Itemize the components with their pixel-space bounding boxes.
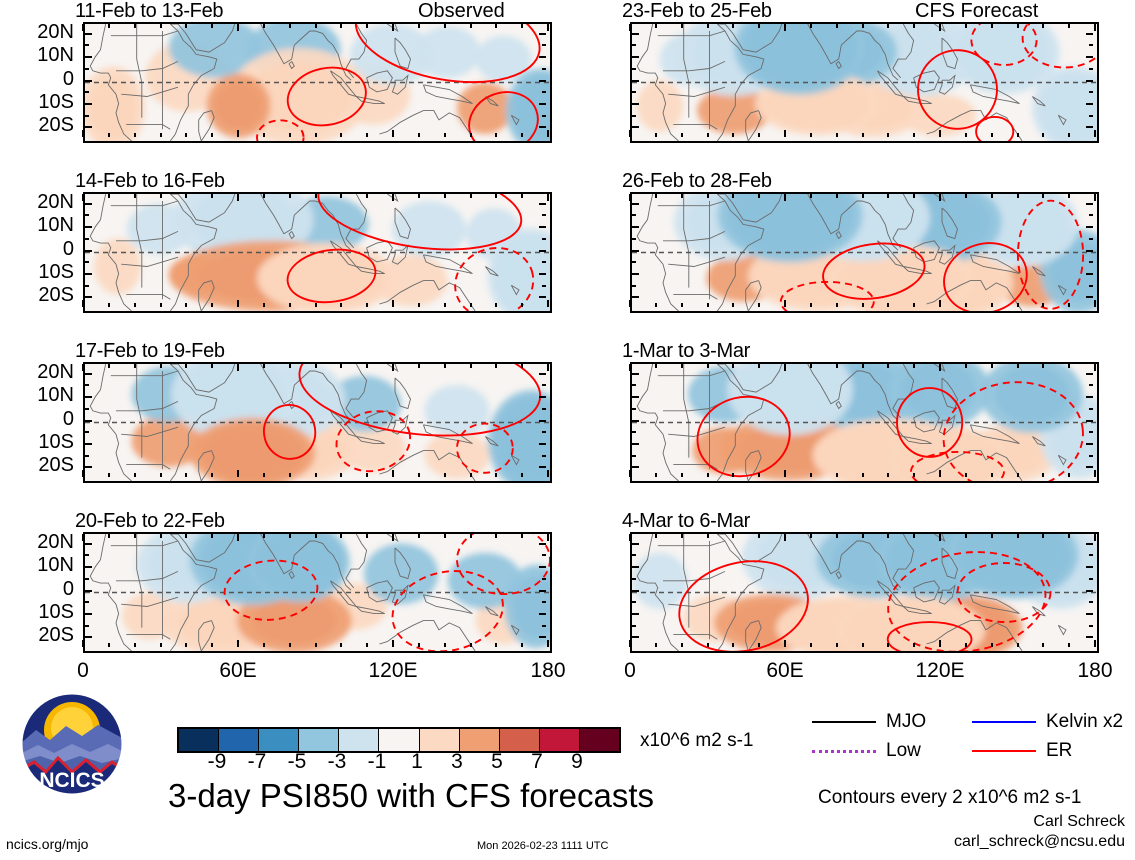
axis-tick	[237, 24, 239, 31]
axis-tick	[134, 473, 136, 477]
axis-tick	[547, 130, 549, 137]
axis-tick	[991, 364, 993, 368]
axis-tick-minor	[85, 578, 89, 580]
axis-tick	[85, 250, 92, 252]
author-name: Carl Schreck	[935, 813, 1125, 831]
axis-tick	[521, 364, 523, 368]
x-axis-label: 120E	[343, 659, 443, 683]
axis-tick-minor	[85, 214, 89, 216]
axis-tick	[1042, 194, 1044, 198]
axis-tick	[629, 364, 631, 371]
axis-tick	[211, 364, 213, 368]
axis-tick	[632, 373, 639, 375]
axis-tick	[539, 373, 546, 375]
axis-tick	[495, 534, 497, 538]
anomaly-field	[632, 534, 1097, 651]
axis-tick-minor	[542, 408, 546, 410]
axis-tick	[211, 534, 213, 538]
axis-tick	[82, 194, 84, 201]
axis-tick	[82, 470, 84, 477]
axis-tick	[681, 303, 683, 307]
axis-tick	[85, 443, 92, 445]
axis-tick	[681, 194, 683, 198]
axis-tick	[965, 534, 967, 538]
axis-tick	[85, 226, 92, 228]
axis-tick	[632, 420, 639, 422]
axis-tick	[444, 643, 446, 647]
axis-tick	[632, 273, 639, 275]
axis-tick-minor	[542, 238, 546, 240]
axis-tick	[1017, 303, 1019, 307]
axis-tick	[108, 194, 110, 198]
axis-tick	[315, 24, 317, 28]
axis-tick	[810, 133, 812, 137]
y-axis-label: 20S	[0, 284, 74, 307]
axis-tick	[681, 364, 683, 368]
axis-tick	[913, 194, 915, 198]
axis-tick	[134, 303, 136, 307]
axis-tick-minor	[85, 554, 89, 556]
axis-tick	[521, 473, 523, 477]
axis-tick	[470, 24, 472, 28]
axis-tick	[289, 133, 291, 137]
axis-tick	[470, 303, 472, 307]
axis-tick	[160, 133, 162, 137]
axis-tick	[160, 364, 162, 368]
axis-tick	[108, 364, 110, 368]
axis-tick	[836, 643, 838, 647]
axis-tick	[1086, 466, 1093, 468]
axis-tick	[1094, 470, 1096, 477]
axis-tick	[539, 636, 546, 638]
legend-label: MJO	[886, 711, 926, 733]
axis-tick-minor	[1089, 68, 1093, 70]
axis-tick	[521, 194, 523, 198]
axis-tick	[539, 296, 546, 298]
axis-tick	[392, 534, 394, 541]
panel-title: 14-Feb to 16-Feb	[75, 170, 225, 193]
axis-tick	[913, 473, 915, 477]
axis-tick-minor	[632, 408, 636, 410]
axis-tick	[810, 303, 812, 307]
axis-tick	[632, 226, 639, 228]
axis-tick-minor	[1089, 238, 1093, 240]
site-url[interactable]: ncics.org/mjo	[6, 836, 88, 852]
axis-tick	[810, 534, 812, 538]
generation-timestamp: Mon 2026-02-23 1111 UTC	[477, 840, 608, 852]
axis-tick-minor	[632, 431, 636, 433]
axis-tick	[366, 194, 368, 198]
axis-tick-minor	[1089, 578, 1093, 580]
axis-tick	[681, 534, 683, 538]
axis-tick	[539, 103, 546, 105]
axis-tick	[547, 364, 549, 371]
axis-tick	[85, 396, 92, 398]
axis-tick	[707, 194, 709, 198]
axis-tick	[758, 534, 760, 538]
x-axis-label: 0	[33, 659, 133, 683]
axis-tick	[185, 473, 187, 477]
axis-tick	[632, 566, 639, 568]
axis-tick	[185, 303, 187, 307]
axis-tick	[392, 364, 394, 371]
axis-tick	[732, 133, 734, 137]
axis-tick	[539, 203, 546, 205]
axis-tick	[366, 133, 368, 137]
axis-tick	[632, 203, 639, 205]
axis-tick	[991, 24, 993, 28]
axis-tick	[237, 470, 239, 477]
axis-tick	[732, 194, 734, 198]
axis-tick	[913, 364, 915, 368]
axis-tick	[340, 534, 342, 538]
axis-tick	[495, 643, 497, 647]
axis-tick	[1086, 250, 1093, 252]
axis-tick-minor	[632, 44, 636, 46]
y-axis-label: 0	[0, 578, 74, 601]
axis-tick	[237, 194, 239, 201]
axis-tick	[1042, 303, 1044, 307]
axis-tick	[85, 126, 92, 128]
axis-tick-minor	[632, 238, 636, 240]
axis-tick	[418, 194, 420, 198]
axis-tick	[1094, 194, 1096, 201]
axis-tick-minor	[632, 578, 636, 580]
axis-tick	[836, 133, 838, 137]
axis-tick	[836, 473, 838, 477]
plot-area	[83, 532, 552, 653]
axis-tick	[539, 126, 546, 128]
axis-tick	[1017, 643, 1019, 647]
axis-tick	[108, 133, 110, 137]
axis-tick	[862, 303, 864, 307]
axis-tick	[108, 643, 110, 647]
ncics-logo: NCICS	[20, 692, 124, 796]
axis-tick	[632, 396, 639, 398]
axis-tick	[862, 364, 864, 368]
plot-area	[630, 362, 1099, 483]
axis-tick	[1086, 543, 1093, 545]
axis-tick	[539, 250, 546, 252]
axis-tick	[108, 534, 110, 538]
axis-tick	[211, 643, 213, 647]
axis-tick	[263, 133, 265, 137]
axis-tick	[655, 303, 657, 307]
axis-tick	[470, 534, 472, 538]
axis-tick	[315, 364, 317, 368]
axis-tick-minor	[85, 238, 89, 240]
axis-tick	[732, 303, 734, 307]
axis-tick	[211, 473, 213, 477]
axis-tick	[632, 296, 639, 298]
axis-tick	[366, 24, 368, 28]
axis-tick	[758, 643, 760, 647]
axis-tick	[681, 133, 683, 137]
axis-tick-minor	[1089, 214, 1093, 216]
axis-tick	[1042, 473, 1044, 477]
panel-title: 26-Feb to 28-Feb	[622, 170, 772, 193]
axis-tick	[629, 534, 631, 541]
axis-tick-minor	[85, 91, 89, 93]
axis-tick	[470, 643, 472, 647]
axis-tick-minor	[85, 44, 89, 46]
axis-tick-minor	[542, 115, 546, 117]
axis-tick	[1042, 643, 1044, 647]
axis-tick-minor	[85, 431, 89, 433]
axis-tick	[470, 194, 472, 198]
axis-tick-minor	[1089, 455, 1093, 457]
anomaly-field	[632, 194, 1097, 311]
axis-tick	[521, 303, 523, 307]
y-axis-label: 10N	[0, 44, 74, 67]
axis-tick-minor	[632, 214, 636, 216]
axis-tick	[632, 250, 639, 252]
axis-tick	[547, 300, 549, 307]
axis-tick-minor	[1089, 261, 1093, 263]
axis-tick-minor	[632, 115, 636, 117]
axis-tick	[784, 640, 786, 647]
axis-tick	[85, 203, 92, 205]
axis-tick	[1086, 373, 1093, 375]
axis-tick	[315, 643, 317, 647]
colorbar-bin	[420, 729, 460, 751]
axis-tick	[85, 566, 92, 568]
axis-tick	[632, 590, 639, 592]
axis-tick	[862, 534, 864, 538]
axis-tick	[1086, 613, 1093, 615]
legend-label: ER	[1046, 740, 1072, 762]
axis-tick	[1068, 303, 1070, 307]
x-axis-label: 60E	[735, 659, 835, 683]
axis-tick-minor	[632, 625, 636, 627]
axis-tick	[732, 473, 734, 477]
axis-tick	[836, 364, 838, 368]
axis-tick	[539, 613, 546, 615]
axis-tick	[707, 643, 709, 647]
axis-tick	[913, 534, 915, 538]
axis-tick	[263, 364, 265, 368]
axis-tick	[1094, 364, 1096, 371]
axis-tick	[732, 24, 734, 28]
colorbar-bin	[500, 729, 540, 751]
plot-area	[83, 362, 552, 483]
colorbar-bin	[460, 729, 500, 751]
axis-tick	[85, 373, 92, 375]
axis-tick-minor	[85, 625, 89, 627]
axis-tick	[939, 300, 941, 307]
axis-tick-minor	[1089, 554, 1093, 556]
axis-tick	[392, 24, 394, 31]
axis-tick	[263, 303, 265, 307]
axis-tick-minor	[85, 408, 89, 410]
axis-tick	[418, 133, 420, 137]
axis-tick	[495, 24, 497, 28]
axis-tick-minor	[542, 625, 546, 627]
axis-tick	[539, 33, 546, 35]
axis-tick	[470, 473, 472, 477]
axis-tick	[85, 56, 92, 58]
axis-tick	[392, 300, 394, 307]
axis-tick	[632, 56, 639, 58]
axis-tick	[862, 473, 864, 477]
axis-tick	[887, 643, 889, 647]
axis-tick	[160, 643, 162, 647]
axis-tick	[185, 133, 187, 137]
axis-tick	[655, 194, 657, 198]
y-axis-label: 10S	[0, 601, 74, 624]
axis-tick	[82, 364, 84, 371]
anomaly-field	[85, 194, 550, 311]
axis-tick	[1068, 133, 1070, 137]
axis-tick	[1086, 56, 1093, 58]
anomaly-field	[85, 24, 550, 141]
axis-tick	[85, 296, 92, 298]
axis-tick	[965, 194, 967, 198]
axis-tick	[495, 473, 497, 477]
axis-tick	[1086, 103, 1093, 105]
axis-tick	[632, 126, 639, 128]
axis-tick	[85, 420, 92, 422]
y-axis-label: 0	[0, 68, 74, 91]
axis-tick	[836, 194, 838, 198]
axis-tick	[289, 534, 291, 538]
axis-tick	[784, 24, 786, 31]
axis-tick	[1086, 273, 1093, 275]
axis-tick	[495, 194, 497, 198]
axis-tick-minor	[85, 601, 89, 603]
axis-tick	[784, 300, 786, 307]
axis-tick	[784, 470, 786, 477]
axis-tick	[732, 643, 734, 647]
axis-tick	[85, 80, 92, 82]
axis-tick	[85, 33, 92, 35]
y-axis-label: 10S	[0, 261, 74, 284]
axis-tick	[366, 303, 368, 307]
panel-title: 4-Mar to 6-Mar	[622, 510, 750, 533]
axis-tick	[134, 534, 136, 538]
y-axis-label: 10N	[0, 554, 74, 577]
axis-tick	[185, 534, 187, 538]
axis-tick	[108, 303, 110, 307]
axis-tick-minor	[632, 601, 636, 603]
axis-tick	[263, 194, 265, 198]
axis-tick	[655, 473, 657, 477]
axis-tick	[1094, 130, 1096, 137]
axis-tick	[1017, 133, 1019, 137]
page-title: 3-day PSI850 with CFS forecasts	[168, 777, 654, 815]
colorbar-unit-label: x10^6 m2 s-1	[640, 730, 753, 752]
y-axis-label: 20S	[0, 114, 74, 137]
axis-tick	[632, 443, 639, 445]
panel-dataset-label: Observed	[418, 0, 505, 23]
axis-tick	[134, 194, 136, 198]
axis-tick	[758, 364, 760, 368]
axis-tick	[539, 543, 546, 545]
axis-tick	[289, 24, 291, 28]
axis-tick	[1086, 566, 1093, 568]
axis-tick	[1086, 203, 1093, 205]
axis-tick	[521, 24, 523, 28]
plot-area	[83, 22, 552, 143]
axis-tick	[547, 470, 549, 477]
axis-tick	[632, 33, 639, 35]
axis-tick	[392, 130, 394, 137]
axis-tick	[418, 303, 420, 307]
axis-tick	[632, 103, 639, 105]
axis-tick	[913, 133, 915, 137]
axis-tick	[160, 194, 162, 198]
y-axis-label: 20N	[0, 531, 74, 554]
y-axis-label: 20N	[0, 191, 74, 214]
axis-tick-minor	[85, 115, 89, 117]
axis-tick	[539, 273, 546, 275]
legend-line-er	[972, 750, 1036, 752]
axis-tick	[887, 364, 889, 368]
axis-tick	[444, 24, 446, 28]
axis-tick-minor	[542, 91, 546, 93]
axis-tick	[810, 643, 812, 647]
axis-tick	[539, 56, 546, 58]
y-axis-label: 20S	[0, 454, 74, 477]
x-axis-label: 120E	[890, 659, 990, 683]
colorbar-tick-label: 9	[552, 750, 602, 774]
axis-tick	[160, 303, 162, 307]
axis-tick	[655, 643, 657, 647]
axis-tick	[495, 303, 497, 307]
axis-tick	[732, 364, 734, 368]
axis-tick	[965, 133, 967, 137]
axis-tick	[185, 643, 187, 647]
axis-tick	[939, 130, 941, 137]
axis-tick	[1017, 473, 1019, 477]
logo-text: NCICS	[39, 769, 104, 792]
axis-tick-minor	[85, 455, 89, 457]
axis-tick	[810, 364, 812, 368]
axis-tick-minor	[1089, 625, 1093, 627]
axis-tick	[965, 643, 967, 647]
y-axis-label: 0	[0, 408, 74, 431]
anomaly-field	[85, 534, 550, 651]
axis-tick	[1086, 80, 1093, 82]
axis-tick	[539, 443, 546, 445]
axis-tick	[539, 226, 546, 228]
axis-tick	[85, 466, 92, 468]
axis-tick	[340, 194, 342, 198]
axis-tick	[707, 534, 709, 538]
axis-tick	[887, 473, 889, 477]
axis-tick	[82, 300, 84, 307]
axis-tick	[547, 640, 549, 647]
axis-tick	[862, 133, 864, 137]
axis-tick	[758, 194, 760, 198]
axis-tick-minor	[85, 384, 89, 386]
axis-tick	[85, 543, 92, 545]
axis-tick	[1042, 24, 1044, 28]
axis-tick	[836, 303, 838, 307]
y-axis-label: 10S	[0, 91, 74, 114]
axis-tick	[340, 303, 342, 307]
axis-tick	[1086, 396, 1093, 398]
panel-title: 11-Feb to 13-Feb	[75, 0, 223, 23]
axis-tick-minor	[1089, 115, 1093, 117]
y-axis-label: 10N	[0, 384, 74, 407]
axis-tick	[82, 534, 84, 541]
axis-tick	[340, 133, 342, 137]
axis-tick-minor	[542, 44, 546, 46]
axis-tick-minor	[85, 261, 89, 263]
axis-tick	[1086, 443, 1093, 445]
colorbar-bin	[379, 729, 419, 751]
